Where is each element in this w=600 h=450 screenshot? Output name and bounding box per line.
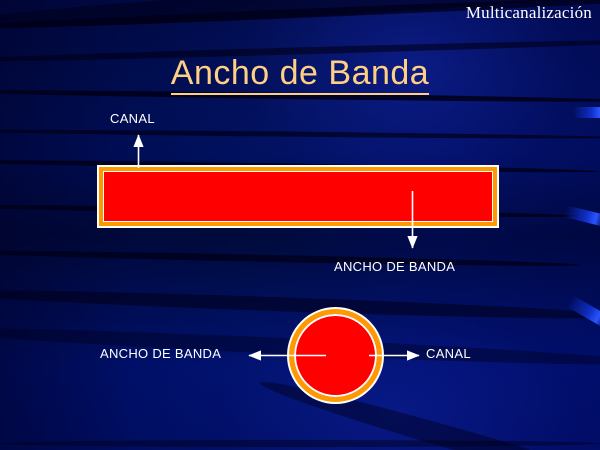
page-title-text: Ancho de Banda bbox=[171, 54, 429, 95]
bar-bandwidth-label: ANCHO DE BANDA bbox=[334, 259, 455, 274]
slide-header-title: Multicanalización bbox=[466, 3, 592, 23]
bandwidth-circle-shape bbox=[289, 309, 382, 402]
page-title: Ancho de Banda bbox=[0, 54, 600, 93]
bandwidth-bar-shape bbox=[99, 167, 497, 226]
bar-channel-label: CANAL bbox=[110, 111, 155, 126]
decorative-streak bbox=[573, 107, 600, 118]
circle-channel-label: CANAL bbox=[426, 346, 471, 361]
circle-bandwidth-label: ANCHO DE BANDA bbox=[100, 346, 221, 361]
background-band bbox=[0, 440, 600, 447]
slide-canvas: Multicanalización Ancho de Banda CANAL A… bbox=[0, 0, 600, 450]
